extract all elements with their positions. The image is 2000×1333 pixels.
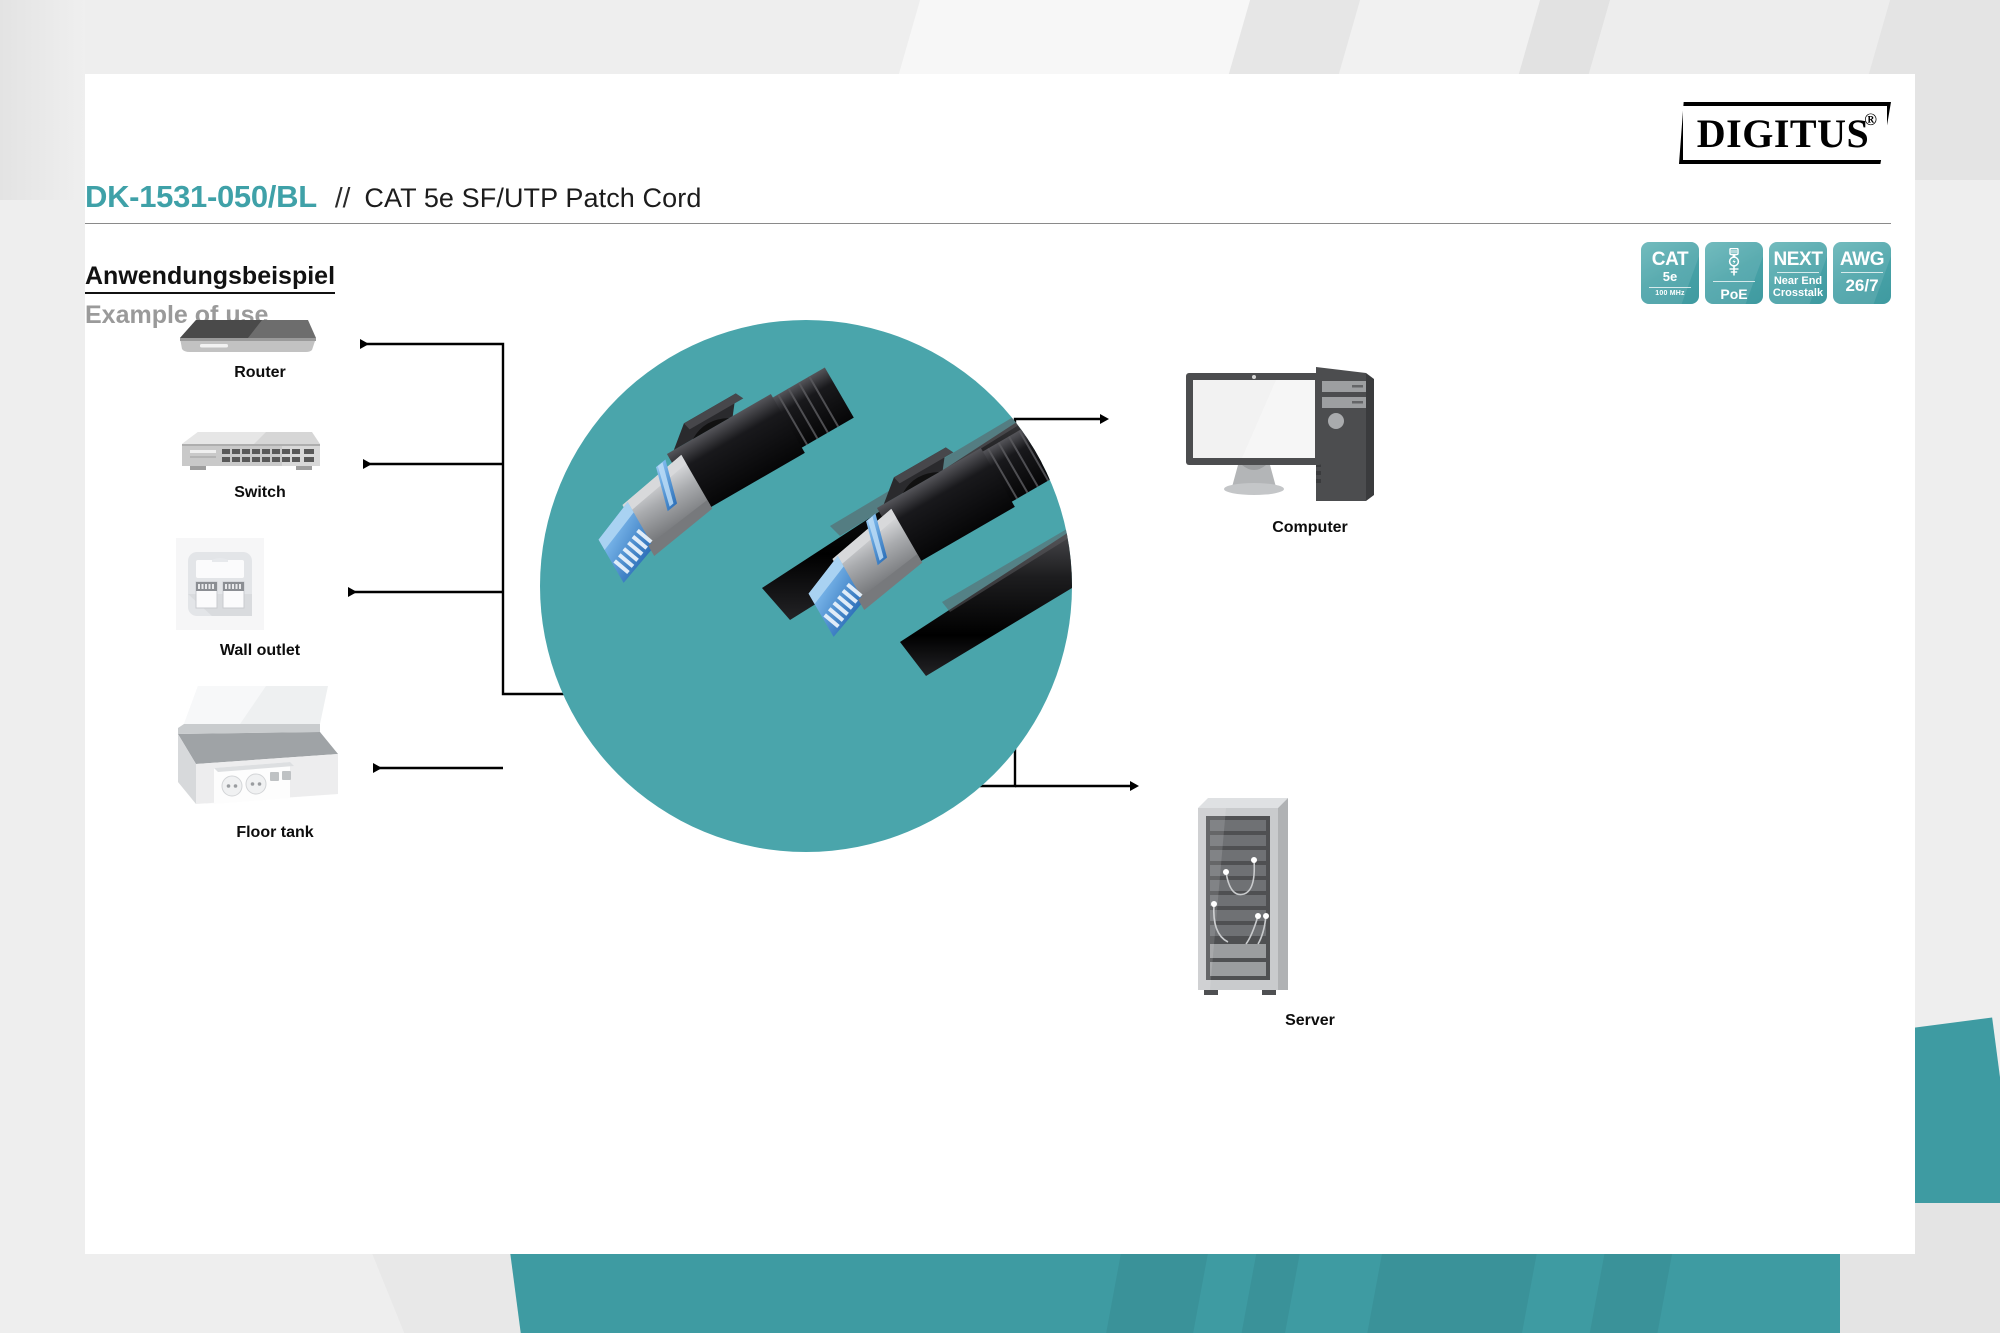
document-card: DIGITUS ® DK-1531-050/BL // CAT 5e SF/UT… [85,74,1915,1254]
badge-divider [1713,281,1755,282]
page-root: DIGITUS ® DK-1531-050/BL // CAT 5e SF/UT… [0,0,2000,1333]
diagram-node-router[interactable]: Router [170,312,350,382]
badge-cat-grade: 5e [1663,270,1677,284]
badge-poe-label: PoE [1720,286,1747,302]
diagram-node-computer[interactable]: Computer [1180,359,1440,537]
badge-divider [1777,272,1819,273]
badge-cat-title: CAT [1652,250,1688,269]
diagram-node-server[interactable]: Server [1180,794,1440,1030]
patch-cord-photo [540,320,1072,852]
server-icon [1180,794,1440,1004]
floor-tank-icon [170,676,380,816]
bg-facet-left [0,0,85,200]
diagram-node-floor-tank[interactable]: Floor tank [170,676,380,842]
badge-next-title: NEXT [1773,250,1822,269]
switch-icon [170,428,350,476]
server-label: Server [1180,1012,1440,1030]
wall-outlet-label: Wall outlet [170,642,350,660]
badge-cat-frequency: 100 MHz [1655,290,1684,297]
switch-label: Switch [170,484,350,502]
badge-next-line1: Near End [1774,275,1822,287]
badge-divider [1649,287,1691,288]
computer-label: Computer [1180,519,1440,537]
wall-outlet-icon [170,534,350,634]
computer-icon [1180,359,1440,511]
router-icon [170,312,350,356]
badge-awg-value: 26/7 [1845,277,1878,294]
badge-divider [1841,272,1883,273]
badge-next-line2: Crosstalk [1773,287,1823,299]
diagram-node-switch[interactable]: Switch [170,428,350,502]
application-diagram: Router [85,74,1915,1254]
floor-tank-label: Floor tank [170,824,380,842]
badge-awg-title: AWG [1840,250,1884,269]
rj45-plug-bolt-icon [1724,248,1744,278]
diagram-node-wall-outlet[interactable]: Wall outlet [170,534,350,660]
router-label: Router [170,364,350,382]
